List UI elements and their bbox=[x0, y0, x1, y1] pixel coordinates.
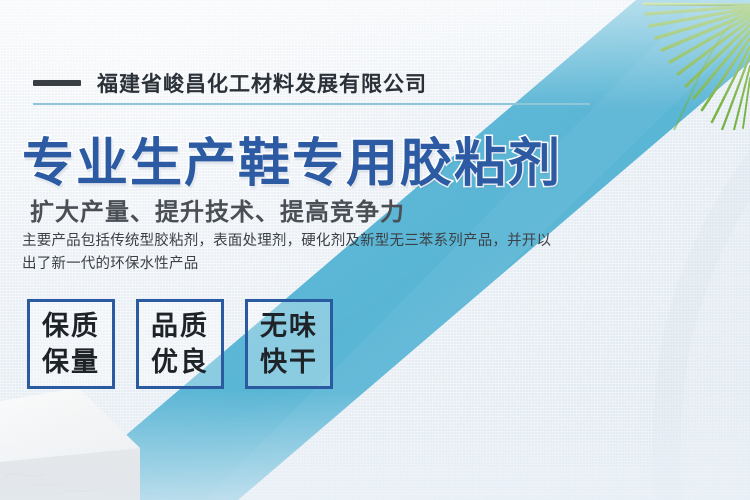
feature-badge-1: 保质 保量 bbox=[27, 299, 115, 389]
badge-1-line-2: 保量 bbox=[42, 344, 100, 380]
badge-2-line-2: 优良 bbox=[151, 344, 209, 380]
badge-3-line-1: 无味 bbox=[260, 308, 318, 344]
company-name-row: 福建省峻昌化工材料发展有限公司 bbox=[33, 68, 427, 98]
badge-3-line-2: 快干 bbox=[260, 344, 318, 380]
description-paragraph: 主要产品包括传统型胶粘剂，表面处理剂，硬化剂及新型无三苯系列产品，并开以 出了新… bbox=[22, 230, 567, 276]
headline: 专业生产鞋专用胶粘剂 bbox=[22, 121, 562, 196]
feature-badge-3: 无味 快干 bbox=[245, 299, 333, 389]
dash-mark-icon bbox=[33, 80, 81, 86]
badge-1-line-1: 保质 bbox=[42, 308, 100, 344]
banner-content: 福建省峻昌化工材料发展有限公司 专业生产鞋专用胶粘剂 扩大产量、提升技术、提高竞… bbox=[0, 0, 750, 500]
subheadline: 扩大产量、提升技术、提高竞争力 bbox=[30, 192, 405, 227]
header-divider bbox=[33, 103, 590, 105]
description-line-2: 出了新一代的环保水性产品 bbox=[22, 253, 567, 276]
company-name: 福建省峻昌化工材料发展有限公司 bbox=[97, 68, 427, 98]
feature-badge-group: 保质 保量 品质 优良 无味 快干 bbox=[27, 299, 333, 389]
badge-2-line-1: 品质 bbox=[151, 308, 209, 344]
description-line-1: 主要产品包括传统型胶粘剂，表面处理剂，硬化剂及新型无三苯系列产品，并开以 bbox=[22, 230, 567, 253]
feature-badge-2: 品质 优良 bbox=[136, 299, 224, 389]
promo-banner: 福建省峻昌化工材料发展有限公司 专业生产鞋专用胶粘剂 扩大产量、提升技术、提高竞… bbox=[0, 0, 750, 500]
